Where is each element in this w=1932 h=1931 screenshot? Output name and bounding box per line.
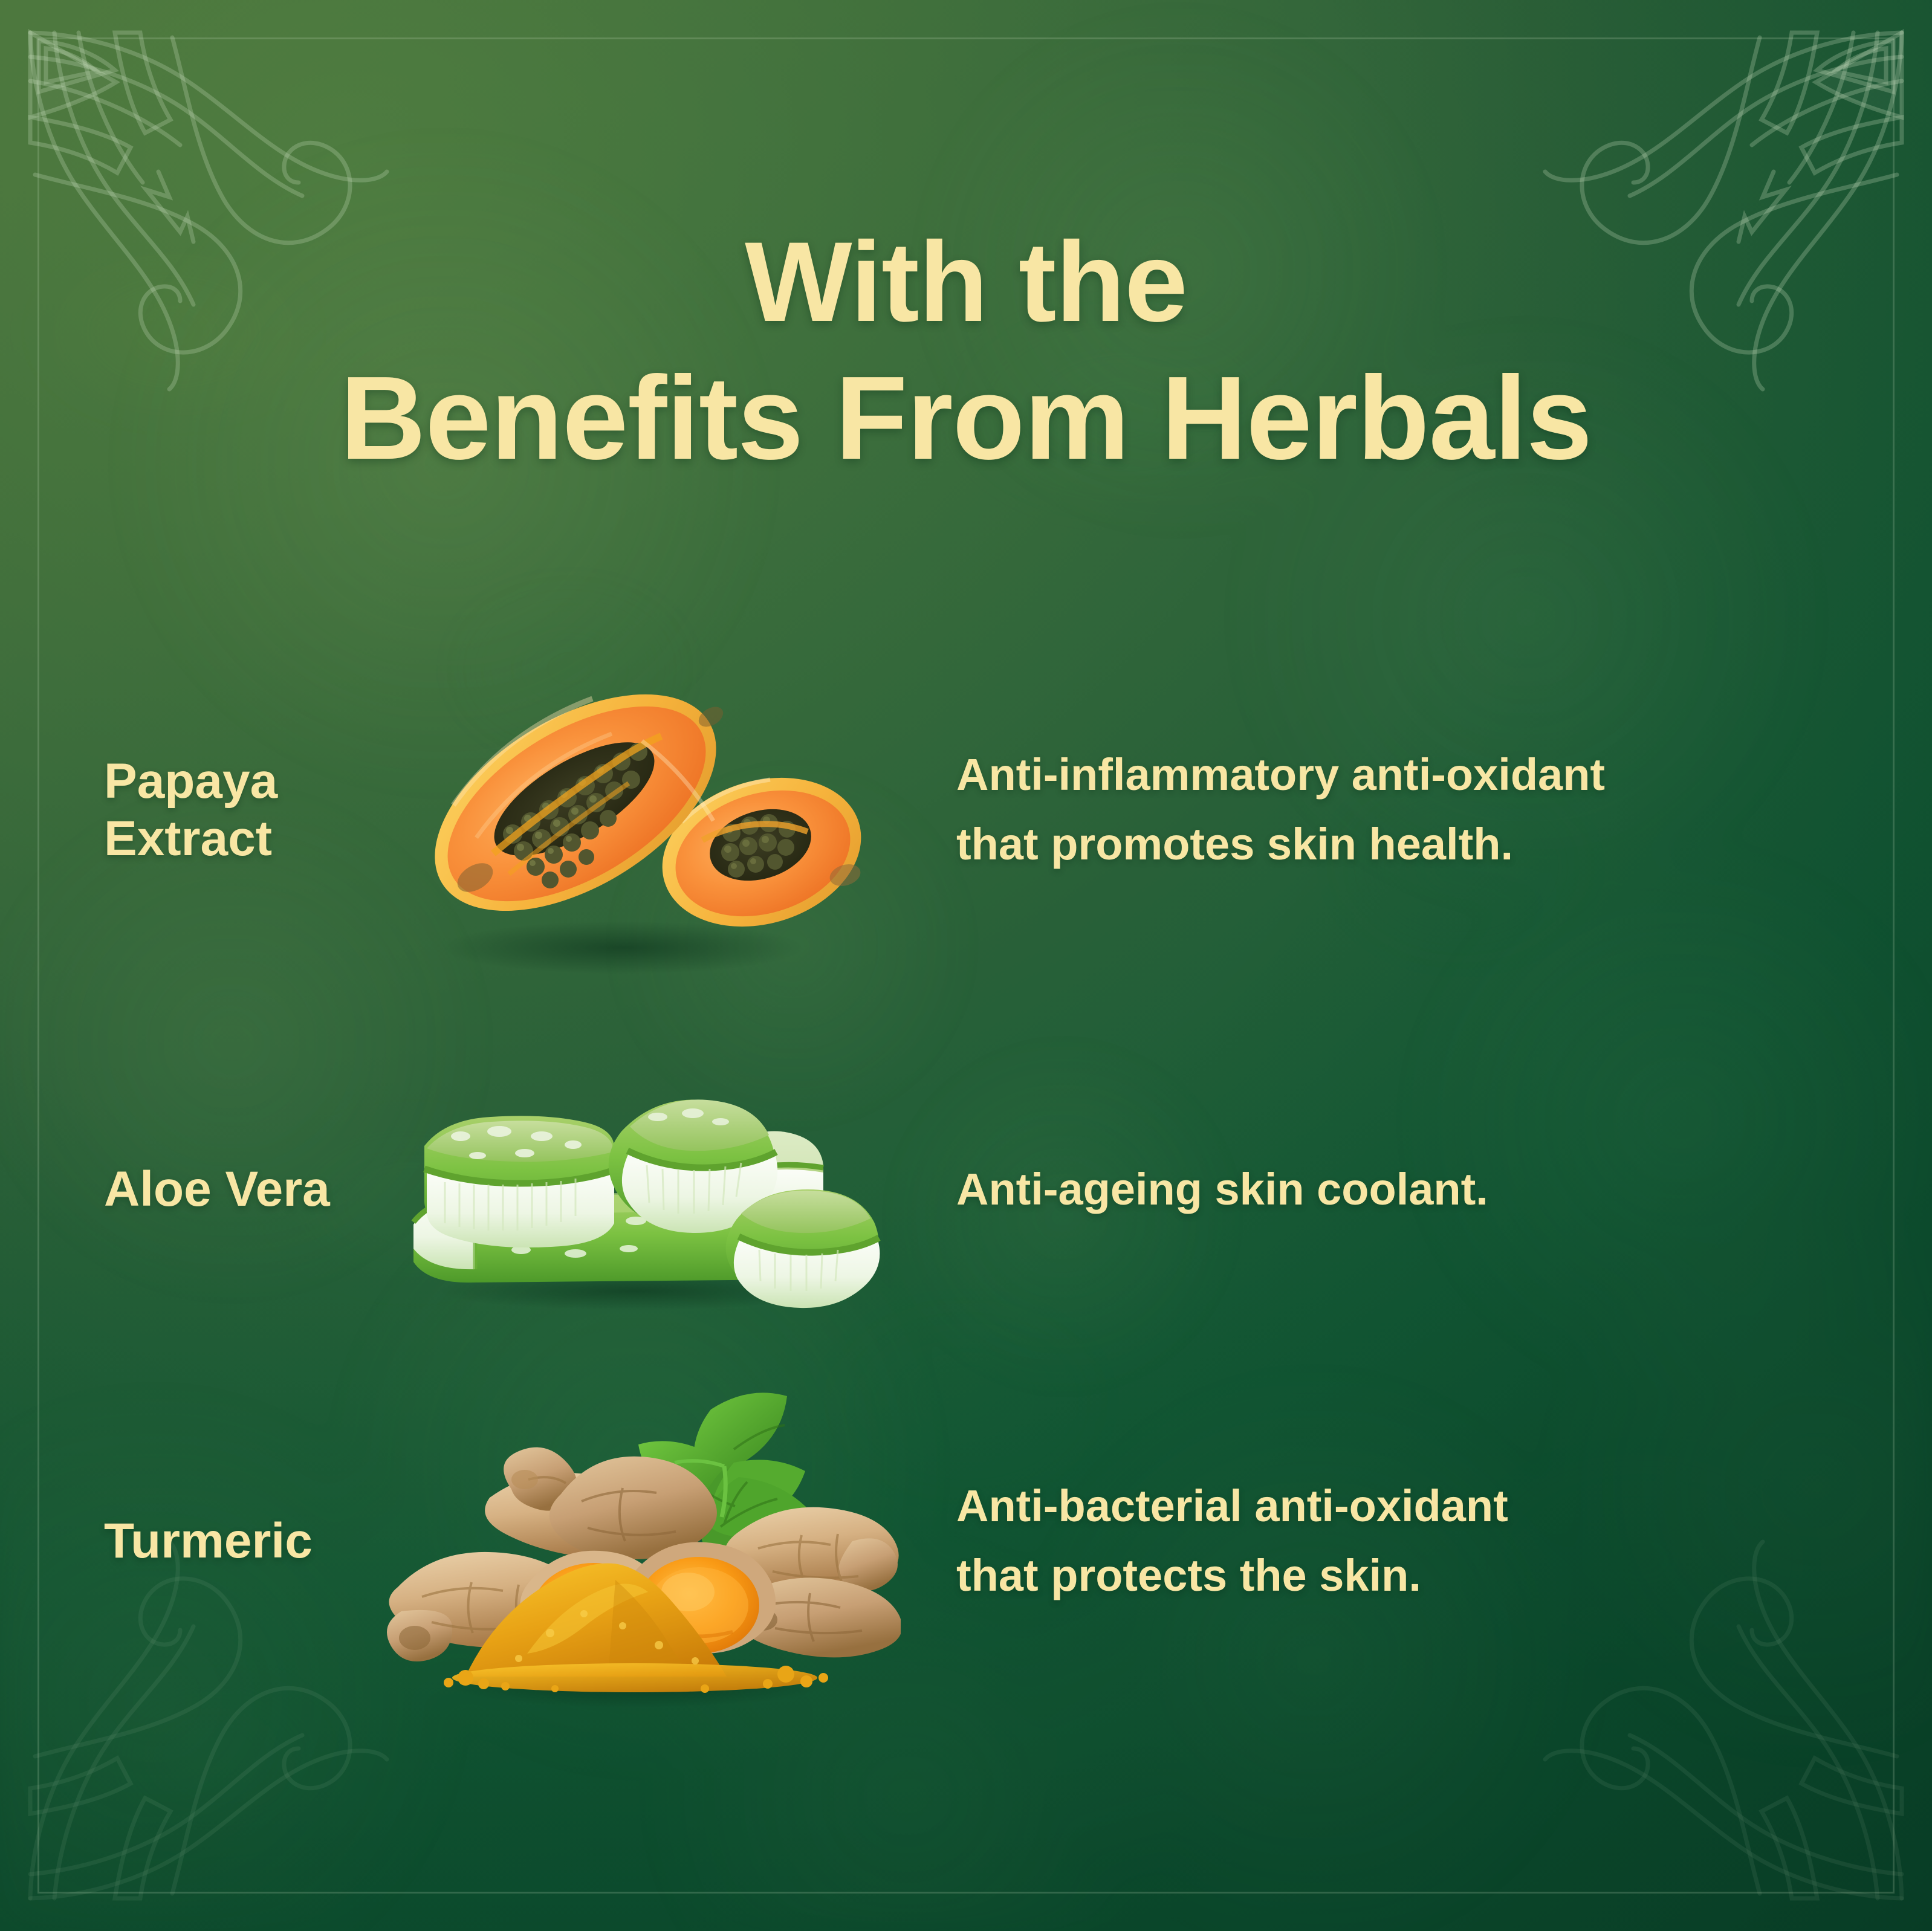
title-line-2: Benefits From Herbals	[0, 359, 1932, 477]
ingredient-name-aloe-line1: Aloe Vera	[104, 1160, 369, 1218]
ingredient-row-turmeric: Turmeric	[0, 1372, 1932, 1710]
ingredient-name-turmeric: Turmeric	[0, 1512, 369, 1570]
ingredient-description-turmeric: Anti-bacterial anti-oxidant that protect…	[901, 1472, 1932, 1610]
poster-title: With the Benefits From Herbals	[0, 225, 1932, 477]
papaya-desc-line1: Anti-inflammatory anti-oxidant	[956, 740, 1859, 810]
ingredient-name-aloe-vera: Aloe Vera	[0, 1160, 369, 1218]
ingredient-description-aloe-vera: Anti-ageing skin coolant.	[901, 1155, 1932, 1224]
turmeric-desc-line1: Anti-bacterial anti-oxidant	[956, 1472, 1859, 1541]
ingredient-name-papaya: Papaya Extract	[0, 752, 369, 867]
ingredient-row-aloe-vera: Aloe Vera	[0, 1069, 1932, 1310]
turmeric-root-and-powder-image	[369, 1372, 901, 1710]
ingredient-description-papaya: Anti-inflammatory anti-oxidant that prom…	[901, 740, 1932, 879]
ingredient-name-papaya-line1: Papaya	[104, 752, 369, 810]
ingredient-row-papaya: Papaya Extract	[0, 641, 1932, 979]
aloe-desc-line1: Anti-ageing skin coolant.	[956, 1155, 1859, 1224]
papaya-desc-line2: that promotes skin health.	[956, 810, 1859, 879]
ingredient-name-turmeric-line1: Turmeric	[104, 1512, 369, 1570]
title-line-1: With the	[0, 225, 1932, 338]
turmeric-desc-line2: that protects the skin.	[956, 1541, 1859, 1611]
aloe-vera-slices-image	[369, 1069, 901, 1310]
ingredient-name-papaya-line2: Extract	[104, 810, 369, 867]
papaya-halves-image	[369, 641, 901, 979]
herbal-benefits-poster: With the Benefits From Herbals Papaya Ex…	[0, 0, 1932, 1931]
